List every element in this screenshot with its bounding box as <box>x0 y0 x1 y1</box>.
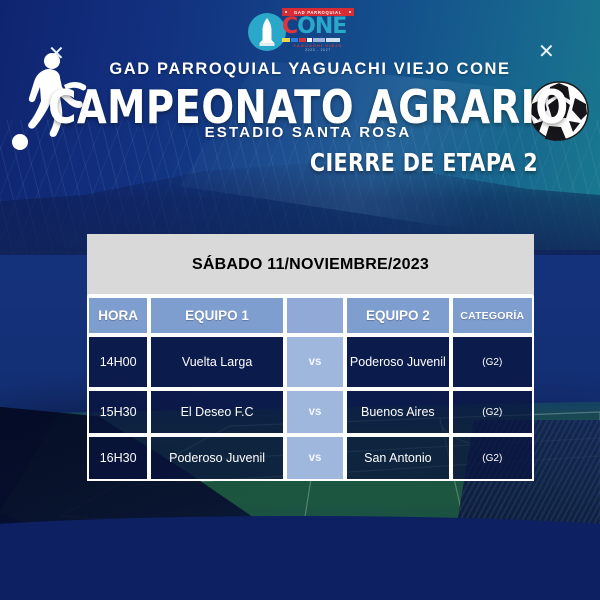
cell-equipo1: Vuelta Larga <box>149 335 285 389</box>
logo-ribbon: GAD PARROQUIAL <box>282 8 354 16</box>
logo-monument-icon <box>248 13 286 51</box>
cell-hora: 16H30 <box>87 435 149 481</box>
x-sparkle-icon: ✕ <box>538 42 555 62</box>
cone-logo: GAD PARROQUIAL CONE YAGUACHI VIEJO 2023 … <box>248 4 358 56</box>
table-row: 16H30 Poderoso Juvenil vs San Antonio (G… <box>87 435 534 481</box>
cell-vs: vs <box>285 335 345 389</box>
organization-kicker: GAD PARROQUIAL YAGUACHI VIEJO CONE <box>0 60 600 79</box>
table-date-row: SÁBADO 11/NOVIEMBRE/2023 <box>87 234 534 296</box>
bottom-navy-band <box>0 530 600 600</box>
table-row: 15H30 El Deseo F.C vs Buenos Aires (G2) <box>87 389 534 435</box>
cell-hora: 14H00 <box>87 335 149 389</box>
column-header-equipo2: EQUIPO 2 <box>345 296 450 335</box>
cell-equipo1: Poderoso Juvenil <box>149 435 285 481</box>
match-schedule-table: SÁBADO 11/NOVIEMBRE/2023 HORA EQUIPO 1 E… <box>87 234 534 481</box>
stage-label: CIERRE DE ETAPA 2 <box>310 148 538 177</box>
cell-categoria: (G2) <box>451 335 534 389</box>
venue-subtitle: ESTADIO SANTA ROSA <box>0 124 600 141</box>
column-header-hora: HORA <box>87 296 149 335</box>
table-row: 14H00 Vuelta Larga vs Poderoso Juvenil (… <box>87 335 534 389</box>
cell-equipo2: Poderoso Juvenil <box>345 335 450 389</box>
cell-equipo1: El Deseo F.C <box>149 389 285 435</box>
cell-equipo2: Buenos Aires <box>345 389 450 435</box>
tournament-poster: ✕ ✕ <box>0 0 600 600</box>
column-header-vs <box>285 296 345 335</box>
column-header-equipo1: EQUIPO 1 <box>149 296 285 335</box>
table-header-row: HORA EQUIPO 1 EQUIPO 2 CATEGORÍA <box>87 296 534 335</box>
cell-equipo2: San Antonio <box>345 435 450 481</box>
cell-vs: vs <box>285 435 345 481</box>
cell-categoria: (G2) <box>451 435 534 481</box>
cell-hora: 15H30 <box>87 389 149 435</box>
schedule-date: SÁBADO 11/NOVIEMBRE/2023 <box>87 234 534 296</box>
column-header-categoria: CATEGORÍA <box>451 296 534 335</box>
logo-term: 2023 - 2027 <box>282 48 354 52</box>
cell-categoria: (G2) <box>451 389 534 435</box>
logo-wordmark: CONE <box>282 17 354 37</box>
cell-vs: vs <box>285 389 345 435</box>
